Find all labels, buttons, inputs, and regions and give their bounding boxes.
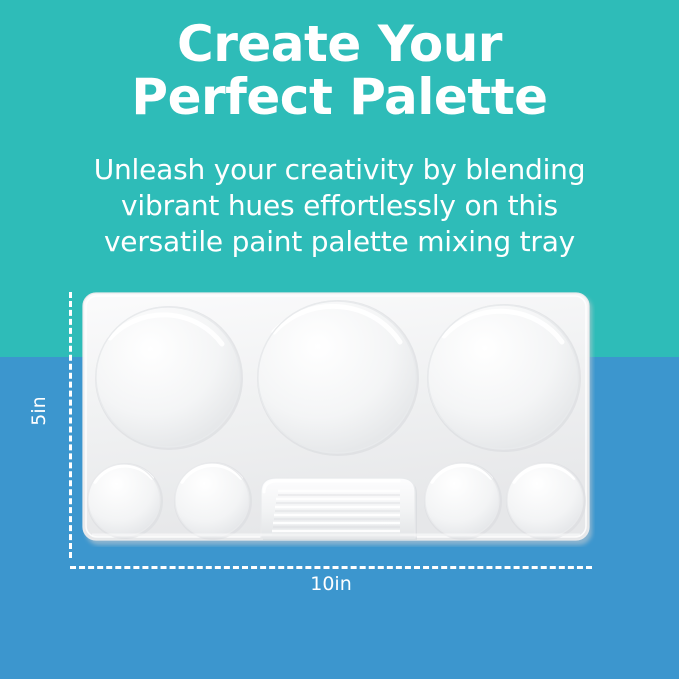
large-well-3 (427, 304, 581, 452)
brush-rest (261, 478, 417, 540)
dimension-line-vertical (69, 292, 72, 558)
product-infographic: Create Your Perfect Palette Unleash your… (0, 0, 679, 679)
paint-palette-tray (82, 292, 595, 547)
dimension-label-height: 5in (28, 388, 50, 434)
subheadline: Unleash your creativity by blending vibr… (0, 152, 679, 260)
headline: Create Your Perfect Palette (0, 18, 679, 124)
subheadline-line-1: Unleash your creativity by blending (0, 152, 679, 188)
headline-line-1: Create Your (0, 18, 679, 71)
dimension-line-horizontal (70, 566, 592, 569)
small-well-4 (506, 462, 586, 540)
subheadline-line-3: versatile paint palette mixing tray (0, 224, 679, 260)
small-well-2 (174, 462, 252, 540)
headline-line-2: Perfect Palette (0, 71, 679, 124)
small-well-3 (424, 462, 502, 540)
large-well-2 (257, 300, 419, 456)
large-well-1 (95, 306, 243, 450)
dimension-label-width: 10in (70, 573, 592, 595)
subheadline-line-2: vibrant hues effortlessly on this (0, 188, 679, 224)
paint-palette-tray-illustration (82, 292, 595, 547)
small-well-1 (87, 463, 163, 539)
